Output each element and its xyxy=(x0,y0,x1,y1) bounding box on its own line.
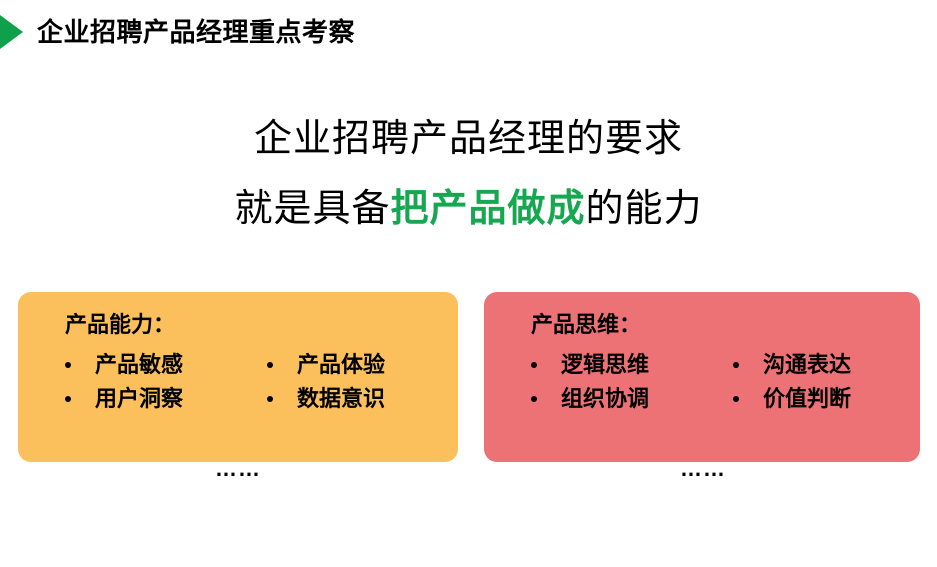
statement-line-2: 就是具备把产品做成的能力 xyxy=(0,174,937,244)
statement-line-2-suffix: 的能力 xyxy=(586,188,703,230)
list-item-label: 组织协调 xyxy=(561,387,649,411)
bullet-dot-icon xyxy=(65,396,71,402)
bullet-dot-icon xyxy=(267,396,273,402)
statement-line-2-highlight: 把产品做成 xyxy=(390,188,585,230)
card-title-product-thinking: 产品思维： xyxy=(531,314,920,336)
statement-block: 企业招聘产品经理的要求 就是具备把产品做成的能力 xyxy=(0,104,937,244)
cards-container: 产品能力： 产品敏感 产品体验 用户洞察 数据意识 xyxy=(18,292,920,462)
bullet-dot-icon xyxy=(267,362,273,368)
list-item-label: 价值判断 xyxy=(763,387,851,411)
bullet-dot-icon xyxy=(65,362,71,368)
list-item: 沟通表达 xyxy=(733,353,935,377)
list-item-label: 沟通表达 xyxy=(763,353,851,377)
statement-line-1: 企业招聘产品经理的要求 xyxy=(0,104,937,174)
list-item-label: 产品敏感 xyxy=(95,353,183,377)
bullet-dot-icon xyxy=(531,396,537,402)
list-item: 用户洞察 xyxy=(65,387,267,411)
bullet-dot-icon xyxy=(733,362,739,368)
bullet-dot-icon xyxy=(733,396,739,402)
list-item: 产品体验 xyxy=(267,353,469,377)
card-product-thinking: 产品思维： 逻辑思维 沟通表达 组织协调 价值判断 xyxy=(484,292,920,462)
list-item: 价值判断 xyxy=(733,387,935,411)
list-item: 产品敏感 xyxy=(65,353,267,377)
card-rows-product-thinking: 逻辑思维 沟通表达 组织协调 价值判断 xyxy=(531,353,920,411)
card-row: 逻辑思维 沟通表达 xyxy=(531,353,920,377)
list-item-label: 产品体验 xyxy=(297,353,385,377)
card-rows-product-ability: 产品敏感 产品体验 用户洞察 数据意识 xyxy=(65,353,458,411)
list-item: 组织协调 xyxy=(531,387,733,411)
card-row: 产品敏感 产品体验 xyxy=(65,353,458,377)
list-item: 数据意识 xyxy=(267,387,469,411)
card-row: 用户洞察 数据意识 xyxy=(65,387,458,411)
card-row: 组织协调 价值判断 xyxy=(531,387,920,411)
ellipsis-product-thinking: …… xyxy=(466,458,937,480)
ellipsis-product-ability: …… xyxy=(0,458,476,480)
card-product-ability: 产品能力： 产品敏感 产品体验 用户洞察 数据意识 xyxy=(18,292,458,462)
statement-line-2-prefix: 就是具备 xyxy=(234,188,390,230)
green-triangle-icon xyxy=(0,15,23,49)
list-item-label: 用户洞察 xyxy=(95,387,183,411)
slide-header: 企业招聘产品经理重点考察 xyxy=(0,12,355,52)
bullet-dot-icon xyxy=(531,362,537,368)
list-item-label: 数据意识 xyxy=(297,387,385,411)
card-title-product-ability: 产品能力： xyxy=(65,314,458,336)
page-title: 企业招聘产品经理重点考察 xyxy=(37,19,355,45)
list-item-label: 逻辑思维 xyxy=(561,353,649,377)
statement-line-1-text: 企业招聘产品经理的要求 xyxy=(254,118,683,160)
list-item: 逻辑思维 xyxy=(531,353,733,377)
